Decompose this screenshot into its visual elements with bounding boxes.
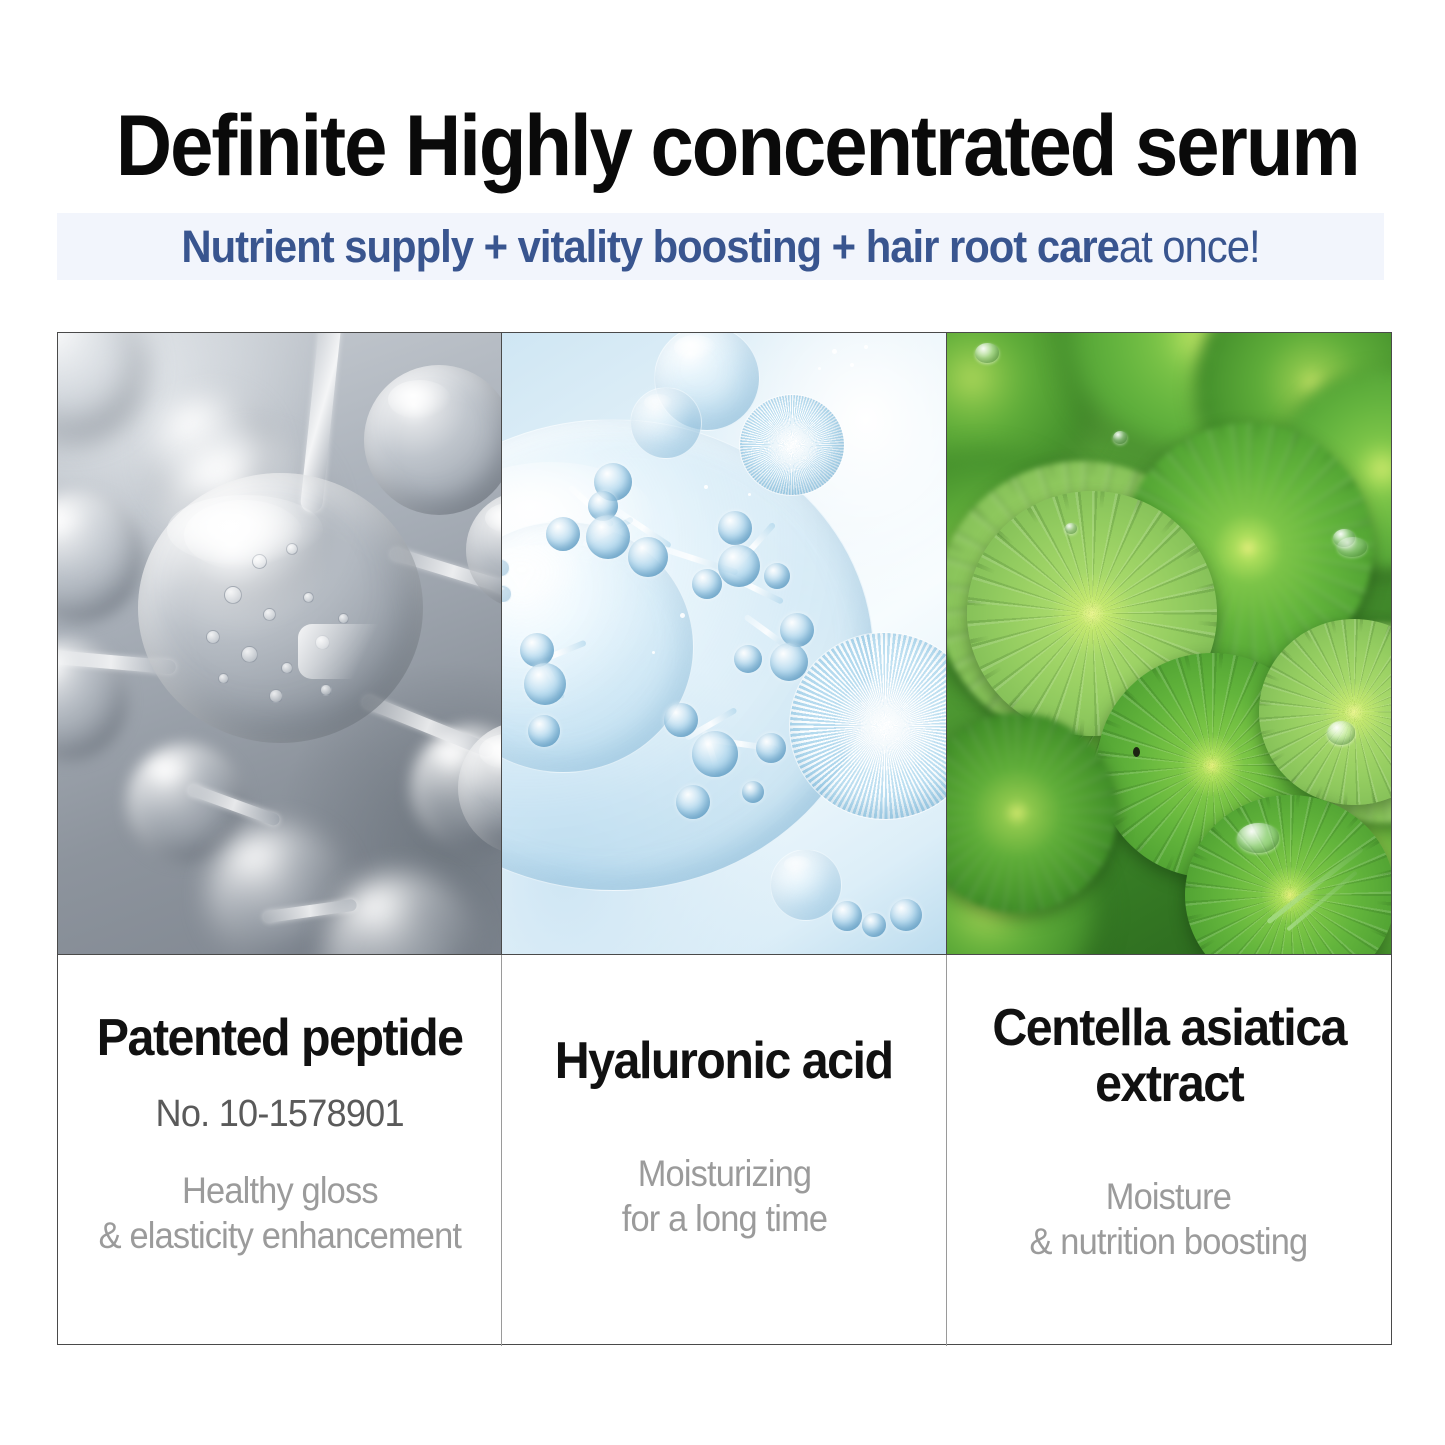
water-bubble <box>630 387 702 459</box>
bubble-speck <box>206 630 220 644</box>
card-text-centella: Centella asiatica extract Moisture & nut… <box>947 955 1391 1346</box>
burst-sphere <box>740 395 844 495</box>
peptide-molecule-photo <box>58 333 502 955</box>
card-description: Moisturizing for a long time <box>621 1151 826 1241</box>
card-title: Hyaluronic acid <box>555 1033 893 1089</box>
centella-asiatica-leaves-photo <box>947 333 1391 955</box>
molecule-atom <box>692 731 738 777</box>
bubble-speck <box>338 613 349 624</box>
bubble-speck <box>281 662 293 674</box>
bubble-speck <box>263 608 276 621</box>
subtitle-text: Nutrient supply + vitality boosting + ha… <box>103 213 1337 280</box>
page-title: Definite Highly concentrated serum <box>116 100 1333 192</box>
bubble-speck <box>320 684 332 696</box>
small-insect <box>1133 747 1140 757</box>
bubble-speck <box>303 592 314 603</box>
subtitle-light-part: at once! <box>1119 221 1260 273</box>
water-droplet <box>1237 823 1279 853</box>
header: Definite Highly concentrated serum Nutri… <box>0 0 1445 300</box>
ingredient-grid: Patented peptide No. 10-1578901 Healthy … <box>57 332 1392 1345</box>
water-droplet <box>1113 431 1127 444</box>
molecule-sphere <box>364 365 502 515</box>
bubble-speck <box>269 689 283 703</box>
sphere-highlight <box>167 495 324 565</box>
water-droplet <box>975 343 999 363</box>
card-subtitle: No. 10-1578901 <box>156 1092 404 1136</box>
card-description: Healthy gloss & elasticity enhancement <box>98 1168 460 1258</box>
water-droplet <box>1065 523 1077 534</box>
molecule-main-sphere <box>138 473 423 743</box>
water-droplet <box>1337 537 1367 557</box>
water-bubble <box>770 849 842 921</box>
card-title: Centella asiatica extract <box>992 1000 1346 1112</box>
card-text-peptide: Patented peptide No. 10-1578901 Healthy … <box>58 955 502 1346</box>
bubble-speck <box>252 554 267 569</box>
bubble-speck <box>224 586 242 604</box>
subtitle-banner: Nutrient supply + vitality boosting + ha… <box>57 213 1384 280</box>
centella-leaf <box>1259 619 1391 805</box>
hyaluronic-acid-bubbles-photo <box>502 333 946 955</box>
card-text-hyaluronic: Hyaluronic acid Moisturizing for a long … <box>502 955 946 1346</box>
card-description: Moisture & nutrition boosting <box>1030 1174 1308 1264</box>
sphere-highlight <box>298 624 388 679</box>
centella-leaf <box>947 713 1117 913</box>
subtitle-strong-part: Nutrient supply + vitality boosting + ha… <box>181 221 1118 273</box>
molecule-atom <box>586 515 630 559</box>
water-droplet <box>1327 721 1355 745</box>
bubble-speck <box>218 673 229 684</box>
bubble-speck <box>241 646 258 663</box>
card-title: Patented peptide <box>97 1010 463 1066</box>
